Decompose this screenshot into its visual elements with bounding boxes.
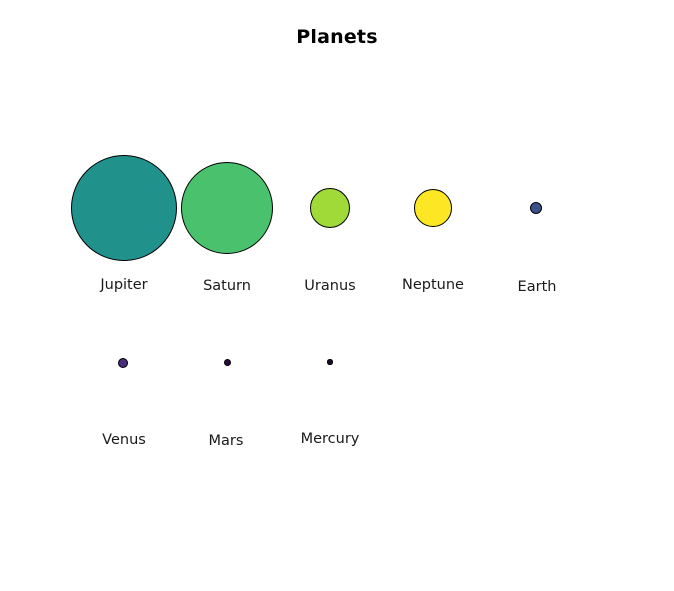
planet-marker-venus[interactable]: [118, 358, 128, 368]
planet-label-venus: Venus: [102, 432, 146, 448]
planet-label-jupiter: Jupiter: [100, 277, 147, 293]
planets-bubble-chart: Planets JupiterSaturnUranusNeptuneEarthV…: [0, 0, 674, 591]
planet-marker-earth[interactable]: [530, 202, 542, 214]
planet-marker-jupiter[interactable]: [71, 155, 177, 261]
planet-marker-mercury[interactable]: [327, 359, 332, 364]
chart-title: Planets: [0, 26, 674, 48]
planet-label-mars: Mars: [209, 433, 244, 449]
planet-label-uranus: Uranus: [304, 278, 355, 294]
planet-label-mercury: Mercury: [301, 431, 360, 447]
planet-marker-neptune[interactable]: [414, 189, 452, 227]
planet-label-saturn: Saturn: [203, 278, 251, 294]
planet-marker-uranus[interactable]: [310, 188, 350, 228]
planet-marker-mars[interactable]: [224, 359, 231, 366]
planet-label-neptune: Neptune: [402, 277, 464, 293]
planet-label-earth: Earth: [518, 279, 557, 295]
planet-marker-saturn[interactable]: [181, 162, 273, 254]
